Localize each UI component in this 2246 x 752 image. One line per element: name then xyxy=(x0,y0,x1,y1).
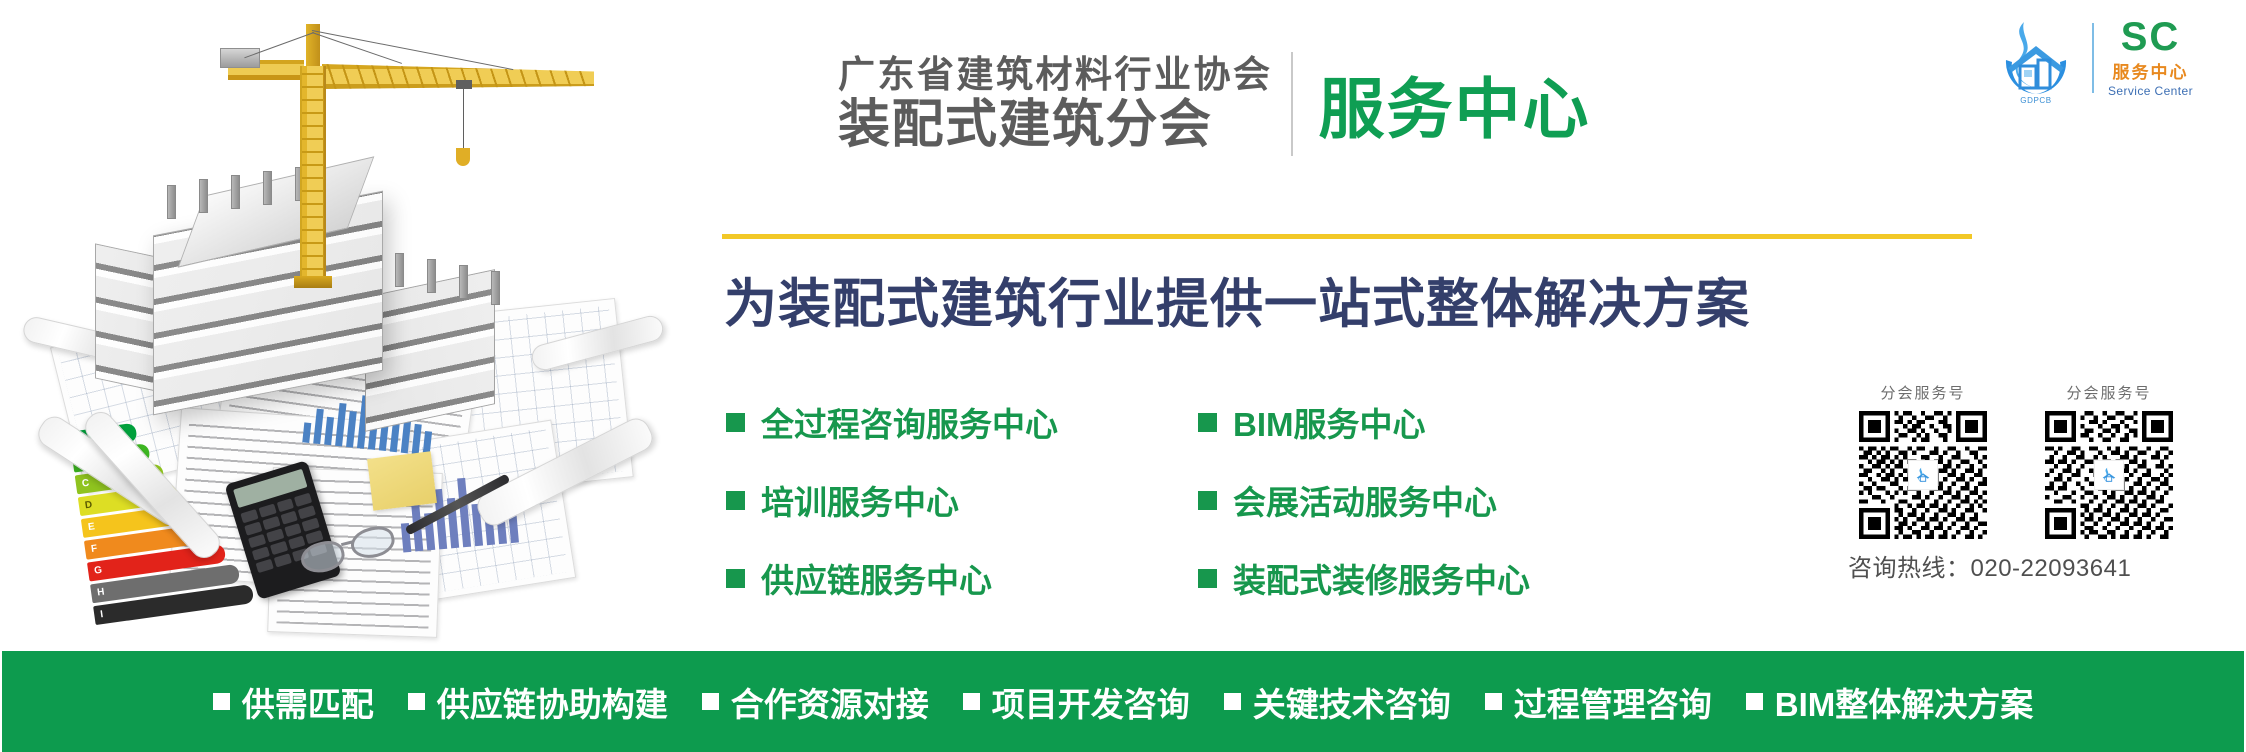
logo-abbreviation: GDPCB xyxy=(1994,96,2078,105)
footer-item-label: 供需匹配 xyxy=(242,678,374,726)
logo-wordmark: SC 服务中心 Service Center xyxy=(2108,18,2193,98)
square-bullet-icon xyxy=(1198,413,1217,432)
service-column-right: BIM服务中心 会展活动服务中心 装配式装修服务中心 xyxy=(1198,398,1530,602)
gdpcb-flame-house-icon: GDPCB xyxy=(1994,16,2078,100)
service-column-left: 全过程咨询服务中心 培训服务中心 供应链服务中心 xyxy=(726,398,1058,602)
footer-item[interactable]: 合作资源对接 xyxy=(702,678,929,726)
footer-item-label: 项目开发咨询 xyxy=(992,678,1190,726)
headline-divider xyxy=(1291,52,1293,156)
service-item[interactable]: 全过程咨询服务中心 xyxy=(726,398,1058,446)
association-line-2: 装配式建筑分会 xyxy=(838,99,1273,152)
service-item[interactable]: 培训服务中心 xyxy=(726,476,1058,524)
service-item[interactable]: 供应链服务中心 xyxy=(726,554,1058,602)
square-bullet-icon xyxy=(1198,569,1217,588)
service-center-lists: 全过程咨询服务中心 培训服务中心 供应链服务中心 BIM服务中心 会展活动服务中… xyxy=(726,398,1826,602)
footer-item[interactable]: 供应链协助构建 xyxy=(408,678,668,726)
hotline-text: 咨询热线：020-22093641 xyxy=(1848,548,2131,583)
service-item-label: 供应链服务中心 xyxy=(761,554,992,602)
service-center-title: 服务中心 xyxy=(1319,56,1591,152)
square-bullet-icon xyxy=(726,413,745,432)
brand-logo: GDPCB SC 服务中心 Service Center xyxy=(1994,12,2234,104)
logo-sc-text: SC xyxy=(2121,18,2181,56)
headline-group: 广东省建筑材料行业协会 装配式建筑分会 服务中心 xyxy=(838,52,1591,156)
qr-center-logo-icon xyxy=(1908,460,1938,490)
square-bullet-icon xyxy=(963,693,980,710)
square-bullet-icon xyxy=(1224,693,1241,710)
service-item-label: 全过程咨询服务中心 xyxy=(761,398,1058,446)
footer-item[interactable]: 关键技术咨询 xyxy=(1224,678,1451,726)
logo-cn-text: 服务中心 xyxy=(2112,58,2188,83)
square-bullet-icon xyxy=(1746,693,1763,710)
footer-item[interactable]: 项目开发咨询 xyxy=(963,678,1190,726)
square-bullet-icon xyxy=(1198,491,1217,510)
footer-item[interactable]: 过程管理咨询 xyxy=(1485,678,1712,726)
qr-code-label: 分会服务号 xyxy=(1848,382,1998,403)
square-bullet-icon xyxy=(213,693,230,710)
service-item-label: 装配式装修服务中心 xyxy=(1233,554,1530,602)
qr-code-label: 分会服务号 xyxy=(2034,382,2184,403)
association-line-1: 广东省建筑材料行业协会 xyxy=(838,56,1273,94)
footer-item-label: 合作资源对接 xyxy=(731,678,929,726)
footer-item[interactable]: 供需匹配 xyxy=(213,678,374,726)
square-bullet-icon xyxy=(1485,693,1502,710)
qr-code-section: 分会服务号 xyxy=(1848,382,2246,539)
yellow-divider-rule xyxy=(722,234,1972,239)
logo-separator xyxy=(2092,23,2094,93)
square-bullet-icon xyxy=(408,693,425,710)
service-item[interactable]: BIM服务中心 xyxy=(1198,398,1530,446)
qr-code-cell: 分会服务号 xyxy=(1848,382,1998,539)
square-bullet-icon xyxy=(702,693,719,710)
tower-crane-graphic xyxy=(210,18,630,298)
square-bullet-icon xyxy=(726,491,745,510)
service-item-label: 培训服务中心 xyxy=(761,476,959,524)
construction-illustration: A B C D E F G H I xyxy=(0,0,690,648)
square-bullet-icon xyxy=(726,569,745,588)
service-item-label: BIM服务中心 xyxy=(1233,398,1426,446)
service-item[interactable]: 装配式装修服务中心 xyxy=(1198,554,1530,602)
service-item[interactable]: 会展活动服务中心 xyxy=(1198,476,1530,524)
footer-service-bar: 供需匹配 供应链协助构建 合作资源对接 项目开发咨询 关键技术咨询 过程管理咨询… xyxy=(2,651,2244,752)
logo-en-text: Service Center xyxy=(2108,84,2193,98)
qr-code-cell: 分会服务号 xyxy=(2034,382,2184,539)
qr-code-image[interactable] xyxy=(2045,411,2173,539)
footer-item-label: 关键技术咨询 xyxy=(1253,678,1451,726)
footer-item-label: 过程管理咨询 xyxy=(1514,678,1712,726)
promo-banner: A B C D E F G H I xyxy=(0,0,2246,752)
footer-item-label: 供应链协助构建 xyxy=(437,678,668,726)
qr-center-logo-icon xyxy=(2094,460,2124,490)
footer-item-label: BIM整体解决方案 xyxy=(1775,678,2034,726)
qr-code-image[interactable] xyxy=(1859,411,1987,539)
association-name: 广东省建筑材料行业协会 装配式建筑分会 xyxy=(838,56,1273,153)
service-item-label: 会展活动服务中心 xyxy=(1233,476,1497,524)
footer-item[interactable]: BIM整体解决方案 xyxy=(1746,678,2034,726)
tagline: 为装配式建筑行业提供一站式整体解决方案 xyxy=(724,262,2024,338)
